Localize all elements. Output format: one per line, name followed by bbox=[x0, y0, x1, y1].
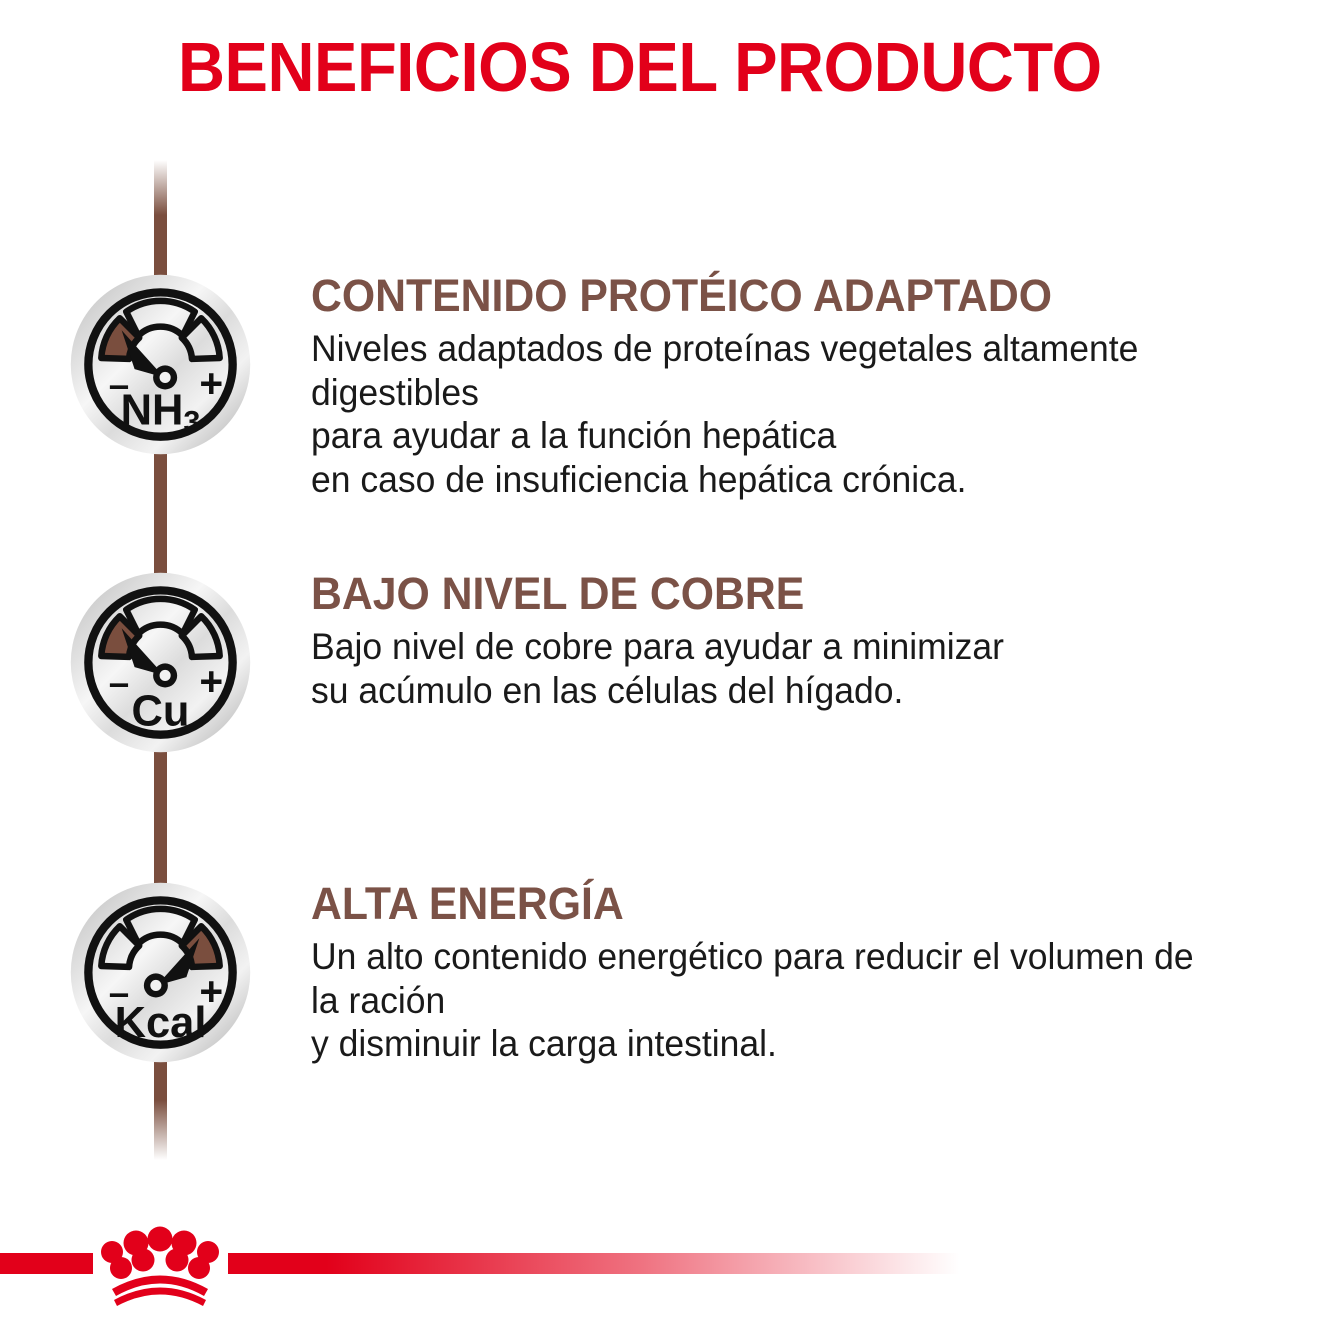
svg-text:–: – bbox=[109, 662, 130, 703]
svg-text:Kcal: Kcal bbox=[115, 999, 207, 1047]
gauge-cu-icon: – + Cu bbox=[68, 570, 253, 755]
benefit-heading-1: CONTENIDO PROTÉICO ADAPTADO bbox=[311, 272, 1214, 319]
svg-text:+: + bbox=[199, 360, 223, 406]
royal-canin-crown-logo bbox=[90, 1212, 230, 1312]
svg-text:Cu: Cu bbox=[132, 687, 190, 735]
benefit-text-1: CONTENIDO PROTÉICO ADAPTADO Niveles adap… bbox=[311, 272, 1261, 501]
benefit-body-2: Bajo nivel de cobre para ayudar a minimi… bbox=[311, 625, 1223, 712]
gauge-kcal-icon: – + Kcal bbox=[68, 880, 253, 1065]
benefit-text-3: ALTA ENERGÍA Un alto contenido energétic… bbox=[311, 880, 1261, 1066]
benefit-text-2: BAJO NIVEL DE COBRE Bajo nivel de cobre … bbox=[311, 570, 1261, 712]
benefit-body-1: Niveles adaptados de proteínas vegetales… bbox=[311, 327, 1223, 501]
gauge-nh3-icon: – + NH3 bbox=[68, 272, 253, 457]
page-title: BENEFICIOS DEL PRODUCTO bbox=[178, 28, 1102, 106]
benefit-body-3: Un alto contenido energético para reduci… bbox=[311, 935, 1223, 1066]
footer-bar-right bbox=[228, 1253, 1320, 1274]
benefit-heading-2: BAJO NIVEL DE COBRE bbox=[311, 570, 1214, 617]
footer-bar-left bbox=[0, 1253, 93, 1274]
footer bbox=[0, 1200, 1320, 1320]
benefit-heading-3: ALTA ENERGÍA bbox=[311, 880, 1214, 927]
svg-text:+: + bbox=[199, 658, 223, 704]
